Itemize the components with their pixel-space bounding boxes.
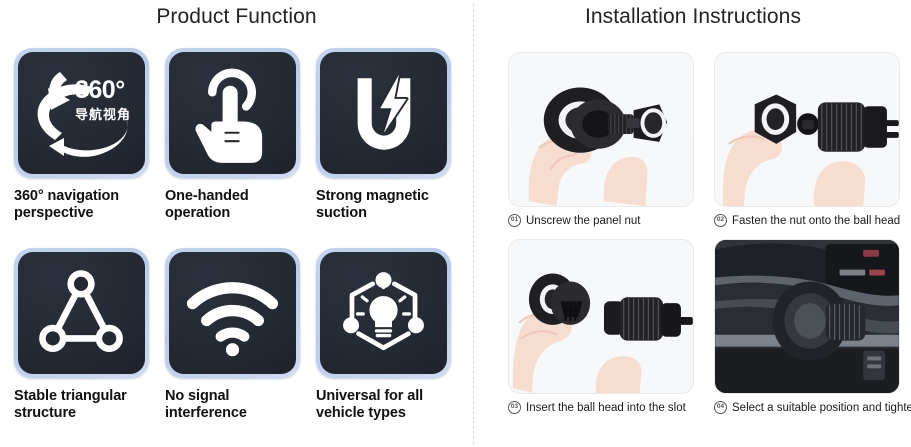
vertical-dashed-divider <box>473 4 474 444</box>
feature-label: One-handed operation <box>165 188 300 222</box>
installation-step: 01 Unscrew the panel nut <box>508 52 694 227</box>
step-number-badge: 02 <box>714 214 727 227</box>
step-caption-text: Insert the ball head into the slot <box>526 402 686 414</box>
feature-card-universal-vehicle: Universal for all vehicle types <box>316 248 451 422</box>
feature-tile <box>165 248 300 378</box>
feature-tile <box>14 248 149 378</box>
hexagon-bulb-icon <box>320 252 447 374</box>
tap-hand-icon <box>169 52 296 174</box>
feature-label: No signal interference <box>165 388 300 422</box>
feature-tile <box>165 48 300 178</box>
installation-step: 02 Fasten the nut onto the ball head <box>714 52 900 227</box>
triangle-nodes-icon <box>18 252 145 374</box>
step-caption: 03 Insert the ball head into the slot <box>508 401 694 414</box>
product-function-title: Product Function <box>0 5 473 29</box>
badge-chinese-caption: 导航视角 <box>75 108 131 121</box>
step-caption-text: Unscrew the panel nut <box>526 215 640 227</box>
step-caption: 02 Fasten the nut onto the ball head <box>714 214 900 227</box>
installation-steps-grid: 01 Unscrew the panel nut <box>508 52 900 414</box>
wifi-signal-icon <box>169 252 296 374</box>
feature-card-triangular-structure: Stable triangular structure <box>14 248 149 422</box>
rotate-360-icon: 360° 导航视角 <box>18 52 145 174</box>
step-caption-text: Fasten the nut onto the ball head <box>732 215 900 227</box>
installation-step: 03 Insert the ball head into the slot <box>508 239 694 414</box>
hands-nut-and-ball-head-photo <box>714 52 900 207</box>
product-function-panel: Product Function <box>0 0 473 447</box>
hands-inserting-ball-head-photo <box>508 239 694 394</box>
feature-tile: 360° 导航视角 <box>14 48 149 178</box>
badge-360-degrees: 360° <box>75 78 131 103</box>
step-caption-text: Select a suitable position and tighten i… <box>732 402 911 414</box>
feature-label: 360° navigation perspective <box>14 188 149 222</box>
step-caption: 04 Select a suitable position and tighte… <box>714 401 900 414</box>
feature-grid: 360° 导航视角 360° navigation perspective <box>14 48 460 422</box>
feature-card-no-signal-interference: No signal interference <box>165 248 300 422</box>
feature-tile <box>316 248 451 378</box>
feature-card-magnetic-suction: Strong magnetic suction <box>316 48 451 222</box>
hands-holding-mount-and-nut-photo <box>508 52 694 207</box>
step-number-badge: 01 <box>508 214 521 227</box>
feature-card-one-handed: One-handed operation <box>165 48 300 222</box>
feature-tile <box>316 48 451 178</box>
magnet-icon <box>320 52 447 174</box>
feature-card-360-navigation: 360° 导航视角 360° navigation perspective <box>14 48 149 222</box>
step-caption: 01 Unscrew the panel nut <box>508 214 694 227</box>
installation-instructions-panel: Installation Instructions <box>475 0 911 447</box>
feature-label: Strong magnetic suction <box>316 188 451 222</box>
step-number-badge: 04 <box>714 401 727 414</box>
installation-instructions-title: Installation Instructions <box>475 5 911 29</box>
feature-label: Universal for all vehicle types <box>316 388 451 422</box>
infographic-root: Product Function <box>0 0 911 447</box>
installation-step: 04 Select a suitable position and tighte… <box>714 239 900 414</box>
feature-label: Stable triangular structure <box>14 388 149 422</box>
mount-installed-on-car-vent-photo <box>714 239 900 394</box>
step-number-badge: 03 <box>508 401 521 414</box>
